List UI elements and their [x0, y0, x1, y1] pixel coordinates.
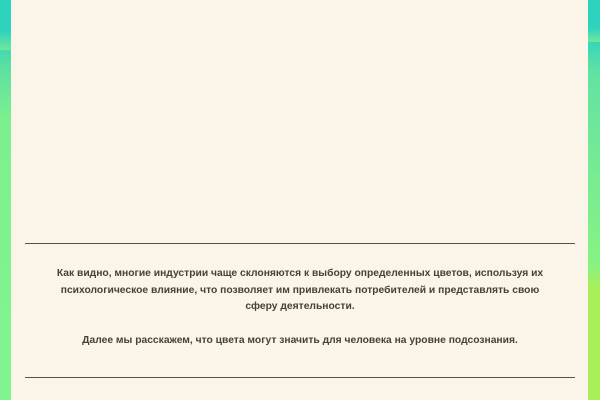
body-copy: Как видно, многие индустрии чаще склоняю…	[46, 266, 554, 349]
divider-bottom	[25, 377, 575, 378]
body-paragraph-1: Как видно, многие индустрии чаще склоняю…	[46, 266, 554, 316]
top-right-teal-accent	[588, 0, 600, 42]
divider-above-body	[25, 243, 575, 244]
right-gradient-strip	[588, 0, 600, 400]
body-paragraph-2: Далее мы расскажем, что цвета могут знач…	[46, 333, 554, 350]
top-left-teal-accent	[0, 0, 11, 50]
slide-canvas: 01. Индустрии 1. Рестораны 2. Банки 3. Н…	[0, 0, 600, 400]
left-gradient-strip	[0, 0, 11, 400]
